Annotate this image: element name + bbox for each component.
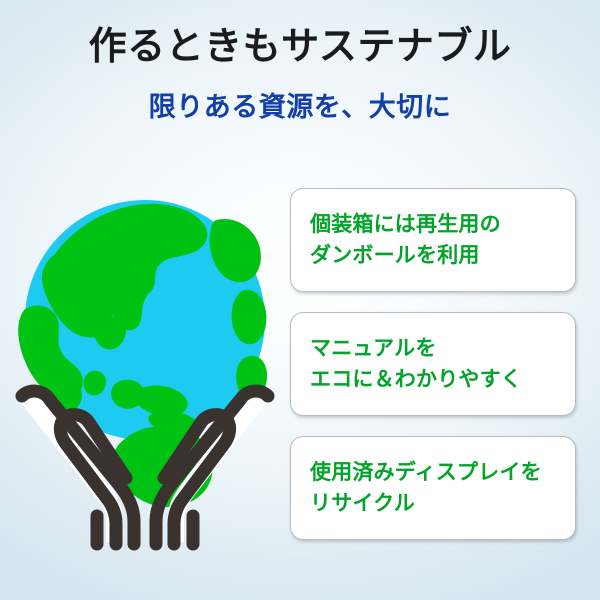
page-subtitle: 限りある資源を、大切に <box>0 90 600 124</box>
card-line: 使用済みディスプレイを <box>310 457 575 488</box>
card-eco-manual[interactable]: マニュアルを エコに＆わかりやすく <box>290 312 576 416</box>
page-title: 作るときもサステナブル <box>0 22 600 72</box>
card-line: リサイクル <box>310 488 575 519</box>
sustainability-poster: 作るときもサステナブル 限りある資源を、大切に <box>0 0 600 600</box>
card-recycled-cardboard[interactable]: 個装箱には再生用の ダンボールを利用 <box>290 188 576 292</box>
feature-card-list: 個装箱には再生用の ダンボールを利用 マニュアルを エコに＆わかりやすく 使用済… <box>290 188 576 540</box>
hands-holding-earth-illustration <box>2 186 288 558</box>
card-line: マニュアルを <box>310 333 575 364</box>
card-display-recycling[interactable]: 使用済みディスプレイを リサイクル <box>290 436 576 540</box>
card-line: ダンボールを利用 <box>310 240 575 271</box>
card-line: エコに＆わかりやすく <box>310 364 575 395</box>
card-line: 個装箱には再生用の <box>310 209 575 240</box>
earth-globe-icon <box>18 200 267 507</box>
heading-block: 作るときもサステナブル 限りある資源を、大切に <box>0 22 600 124</box>
